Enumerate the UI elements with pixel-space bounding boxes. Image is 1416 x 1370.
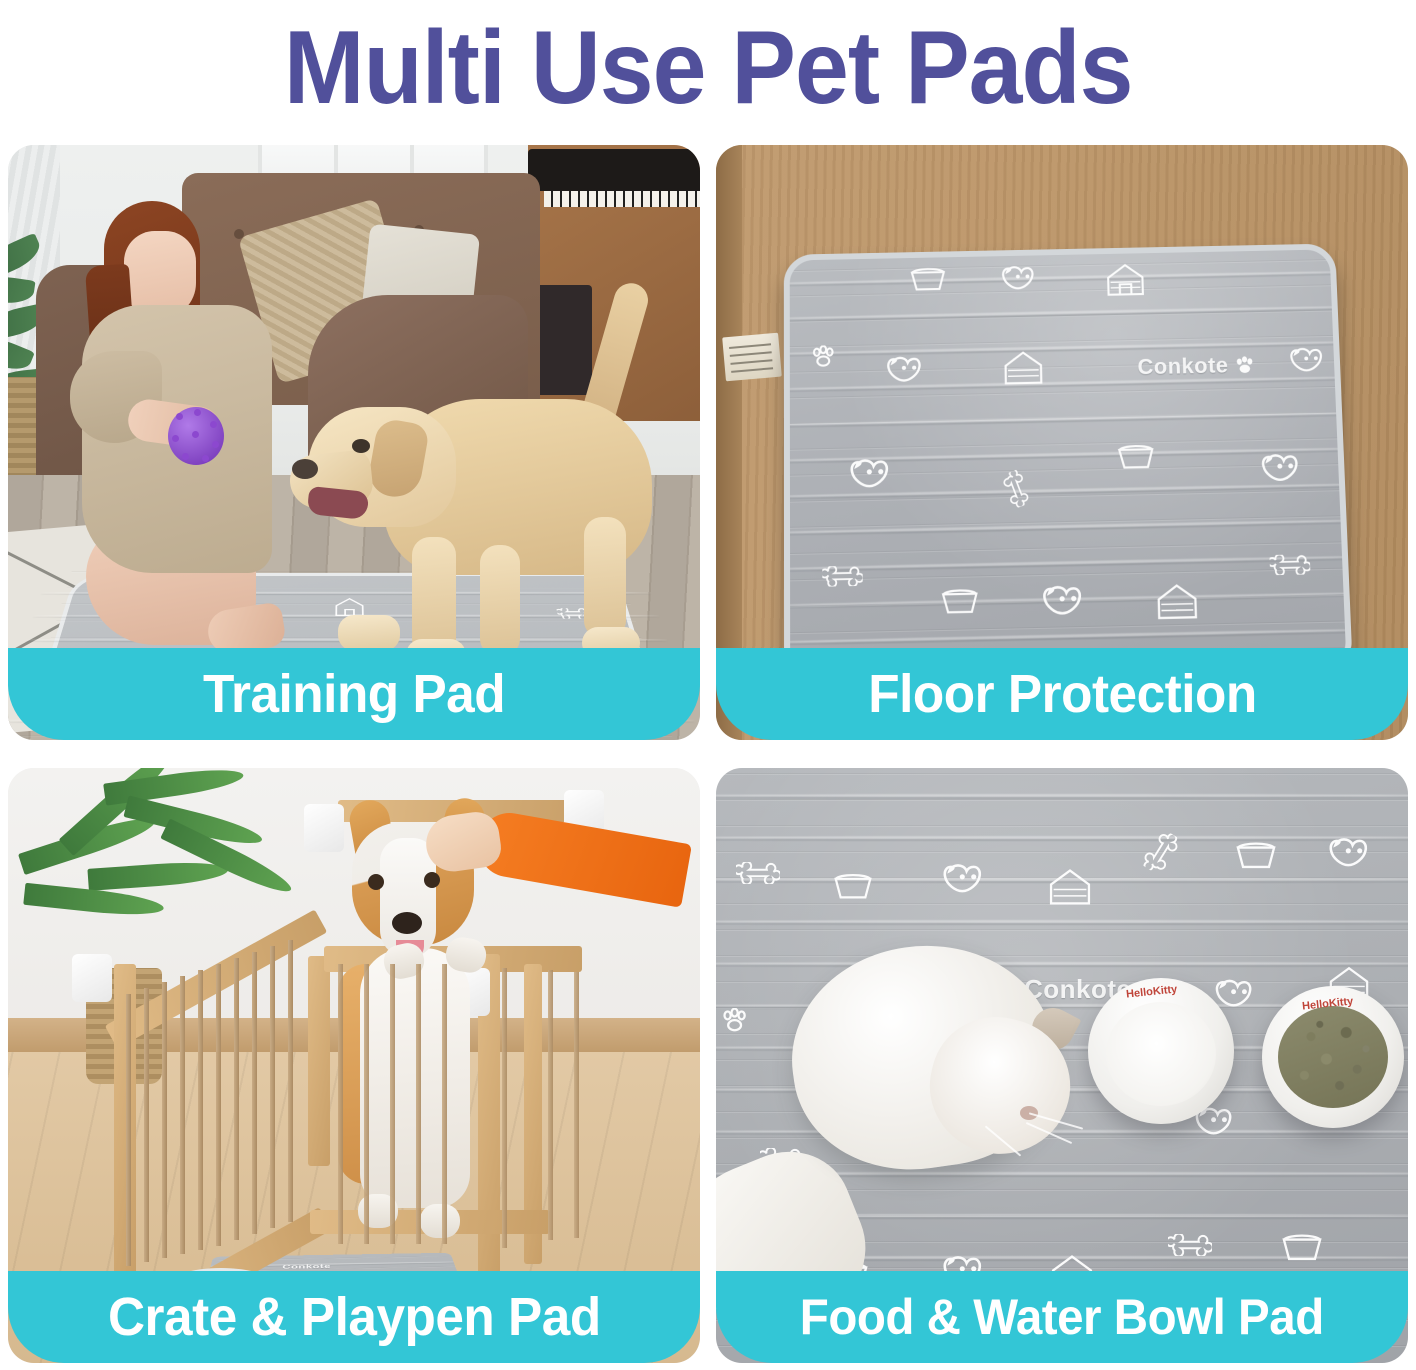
bone-motif bbox=[1269, 554, 1310, 575]
caption-bar-training-pad: Training Pad bbox=[8, 648, 700, 740]
corgi-eye bbox=[424, 872, 440, 888]
panel-floor-protection[interactable]: Conkote bbox=[716, 145, 1408, 740]
piano-stool bbox=[536, 285, 592, 395]
dog-face-motif bbox=[848, 448, 902, 489]
caption-label: Floor Protection bbox=[868, 665, 1257, 723]
dog-house-motif bbox=[1103, 261, 1147, 299]
food-bowl-motif bbox=[1234, 836, 1278, 872]
brand-name: Conkote bbox=[1137, 353, 1229, 380]
brand-name: Conkote bbox=[282, 1263, 331, 1270]
food-bowl: HelloKitty bbox=[1262, 986, 1404, 1128]
water-bowl: HelloKitty bbox=[1088, 978, 1234, 1124]
corgi-chest bbox=[360, 948, 470, 1208]
infographic-page: Multi Use Pet Pads bbox=[0, 0, 1416, 1370]
food-bowl-motif bbox=[939, 583, 980, 616]
dog-face-motif bbox=[1328, 828, 1380, 868]
bone-motif bbox=[1168, 1234, 1212, 1256]
dog-leg bbox=[412, 537, 456, 655]
corgi-nose bbox=[392, 912, 422, 934]
bone-motif bbox=[1140, 832, 1182, 872]
playpen-post bbox=[308, 956, 330, 1166]
panel-food-water-bowl-pad[interactable]: Conkote Conkote bbox=[716, 768, 1408, 1363]
paw-print-icon bbox=[1234, 356, 1256, 375]
bone-motif bbox=[736, 862, 780, 884]
dog-face-motif bbox=[942, 854, 994, 894]
pet-pad: Conkote bbox=[784, 243, 1353, 683]
playpen-corner-bracket bbox=[72, 954, 112, 1002]
piano-lid bbox=[528, 149, 700, 191]
caption-bar-food-water-bowl-pad: Food & Water Bowl Pad bbox=[716, 1271, 1408, 1363]
paw-print-motif bbox=[812, 345, 838, 369]
panel-crate-playpen-pad[interactable]: Conkote bbox=[8, 768, 700, 1363]
dog-eye bbox=[352, 439, 370, 453]
dog-face-motif bbox=[1001, 257, 1045, 291]
dog-face-motif bbox=[1214, 970, 1264, 1008]
care-tag bbox=[722, 333, 782, 382]
food-bowl-motif bbox=[1116, 439, 1157, 472]
playpen-post bbox=[114, 964, 136, 1274]
caption-bar-crate-playpen-pad: Crate & Playpen Pad bbox=[8, 1271, 700, 1363]
bone-motif bbox=[998, 470, 1035, 509]
panel-grid: Conkote bbox=[8, 145, 1408, 1363]
dog-face-motif bbox=[885, 347, 933, 383]
corgi-eye bbox=[368, 874, 384, 890]
pad-brand-logo: Conkote bbox=[282, 1263, 331, 1270]
playpen-corner-bracket bbox=[304, 804, 344, 852]
food-bowl-motif bbox=[1280, 1228, 1324, 1264]
dog-house-motif bbox=[1046, 866, 1094, 908]
piano-keys bbox=[544, 191, 700, 207]
page-title: Multi Use Pet Pads bbox=[284, 16, 1133, 120]
dog-paw bbox=[338, 615, 400, 651]
food-bowl-motif bbox=[832, 868, 874, 902]
caption-bar-floor-protection: Floor Protection bbox=[716, 648, 1408, 740]
dog-leg bbox=[480, 545, 520, 655]
corgi-paw bbox=[420, 1204, 460, 1238]
dog-leg bbox=[584, 517, 626, 637]
caption-label: Training Pad bbox=[203, 665, 505, 723]
pad-brand-logo: Conkote bbox=[1137, 352, 1256, 380]
bowl-print-label: HelloKitty bbox=[1126, 983, 1178, 1000]
caption-label: Food & Water Bowl Pad bbox=[800, 1288, 1324, 1346]
dog-house-motif bbox=[1153, 581, 1201, 623]
purple-dog-toy bbox=[168, 407, 224, 465]
dog-face-motif bbox=[1040, 575, 1095, 617]
header: Multi Use Pet Pads bbox=[0, 0, 1416, 136]
caption-label: Crate & Playpen Pad bbox=[108, 1288, 601, 1346]
dog-face-motif bbox=[1288, 339, 1335, 373]
panel-training-pad[interactable]: Conkote bbox=[8, 145, 700, 740]
paw-print-motif bbox=[722, 1008, 750, 1034]
dog-nose bbox=[292, 459, 318, 479]
dog-house-motif bbox=[1000, 349, 1046, 387]
dog-face-motif bbox=[1260, 444, 1311, 483]
dry-food bbox=[1278, 1006, 1388, 1108]
food-bowl-motif bbox=[908, 263, 948, 293]
bone-motif bbox=[822, 566, 862, 587]
milk bbox=[1106, 1002, 1216, 1106]
